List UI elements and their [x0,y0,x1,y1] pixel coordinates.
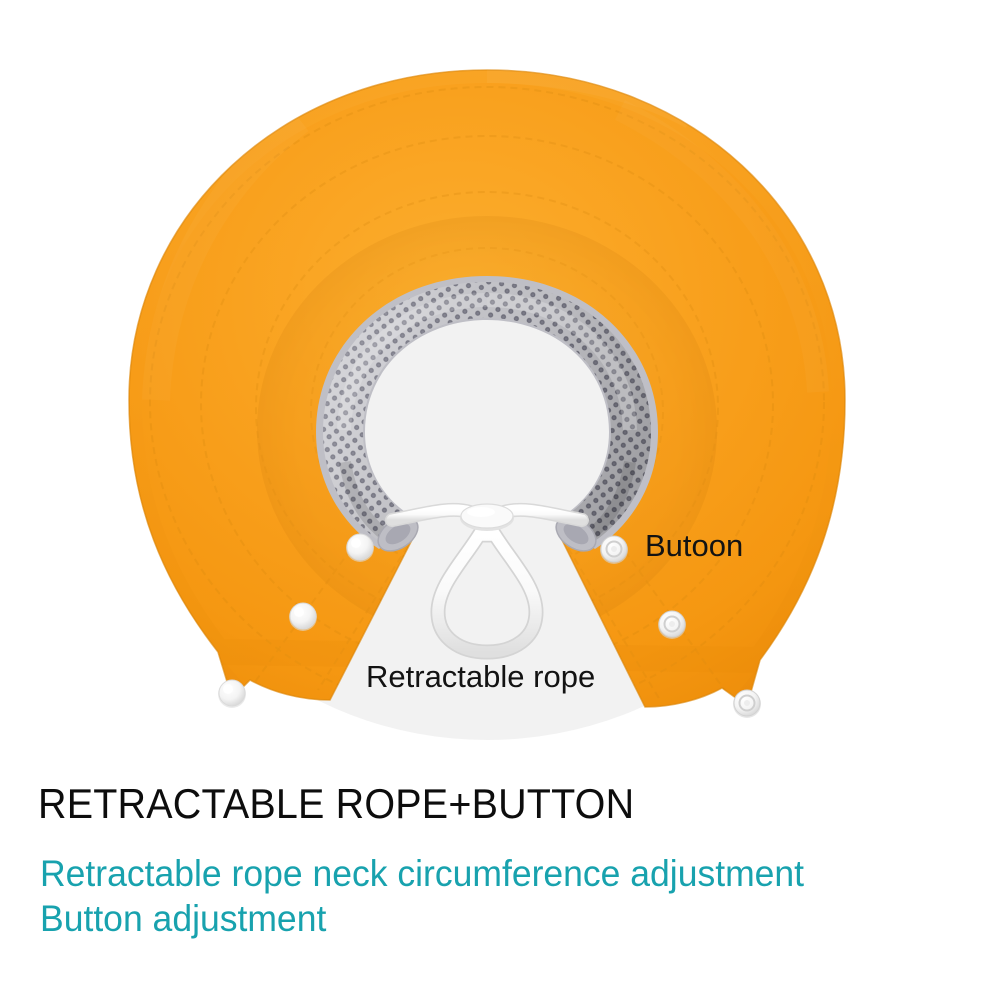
product-illustration: Butoon Retractable rope [0,0,1000,770]
caption-headline: RETRACTABLE ROPE+BUTTON [38,780,634,828]
snap-button [658,611,686,639]
callout-label-button: Butoon [645,530,743,561]
snap-button [733,690,761,718]
cord-lock-toggle [460,504,514,531]
snap-button [289,603,317,631]
snap-button [600,536,628,564]
caption-block: RETRACTABLE ROPE+BUTTON Retractable rope… [0,770,1000,1000]
callout-label-retractable-rope: Retractable rope [366,661,595,692]
caption-subline-2: Button adjustment [40,898,326,940]
caption-subline-1: Retractable rope neck circumference adju… [40,853,804,895]
snap-button [218,680,246,708]
product-image-page: Butoon Retractable rope RETRACTABLE ROPE… [0,0,1000,1000]
snap-button [346,534,374,562]
